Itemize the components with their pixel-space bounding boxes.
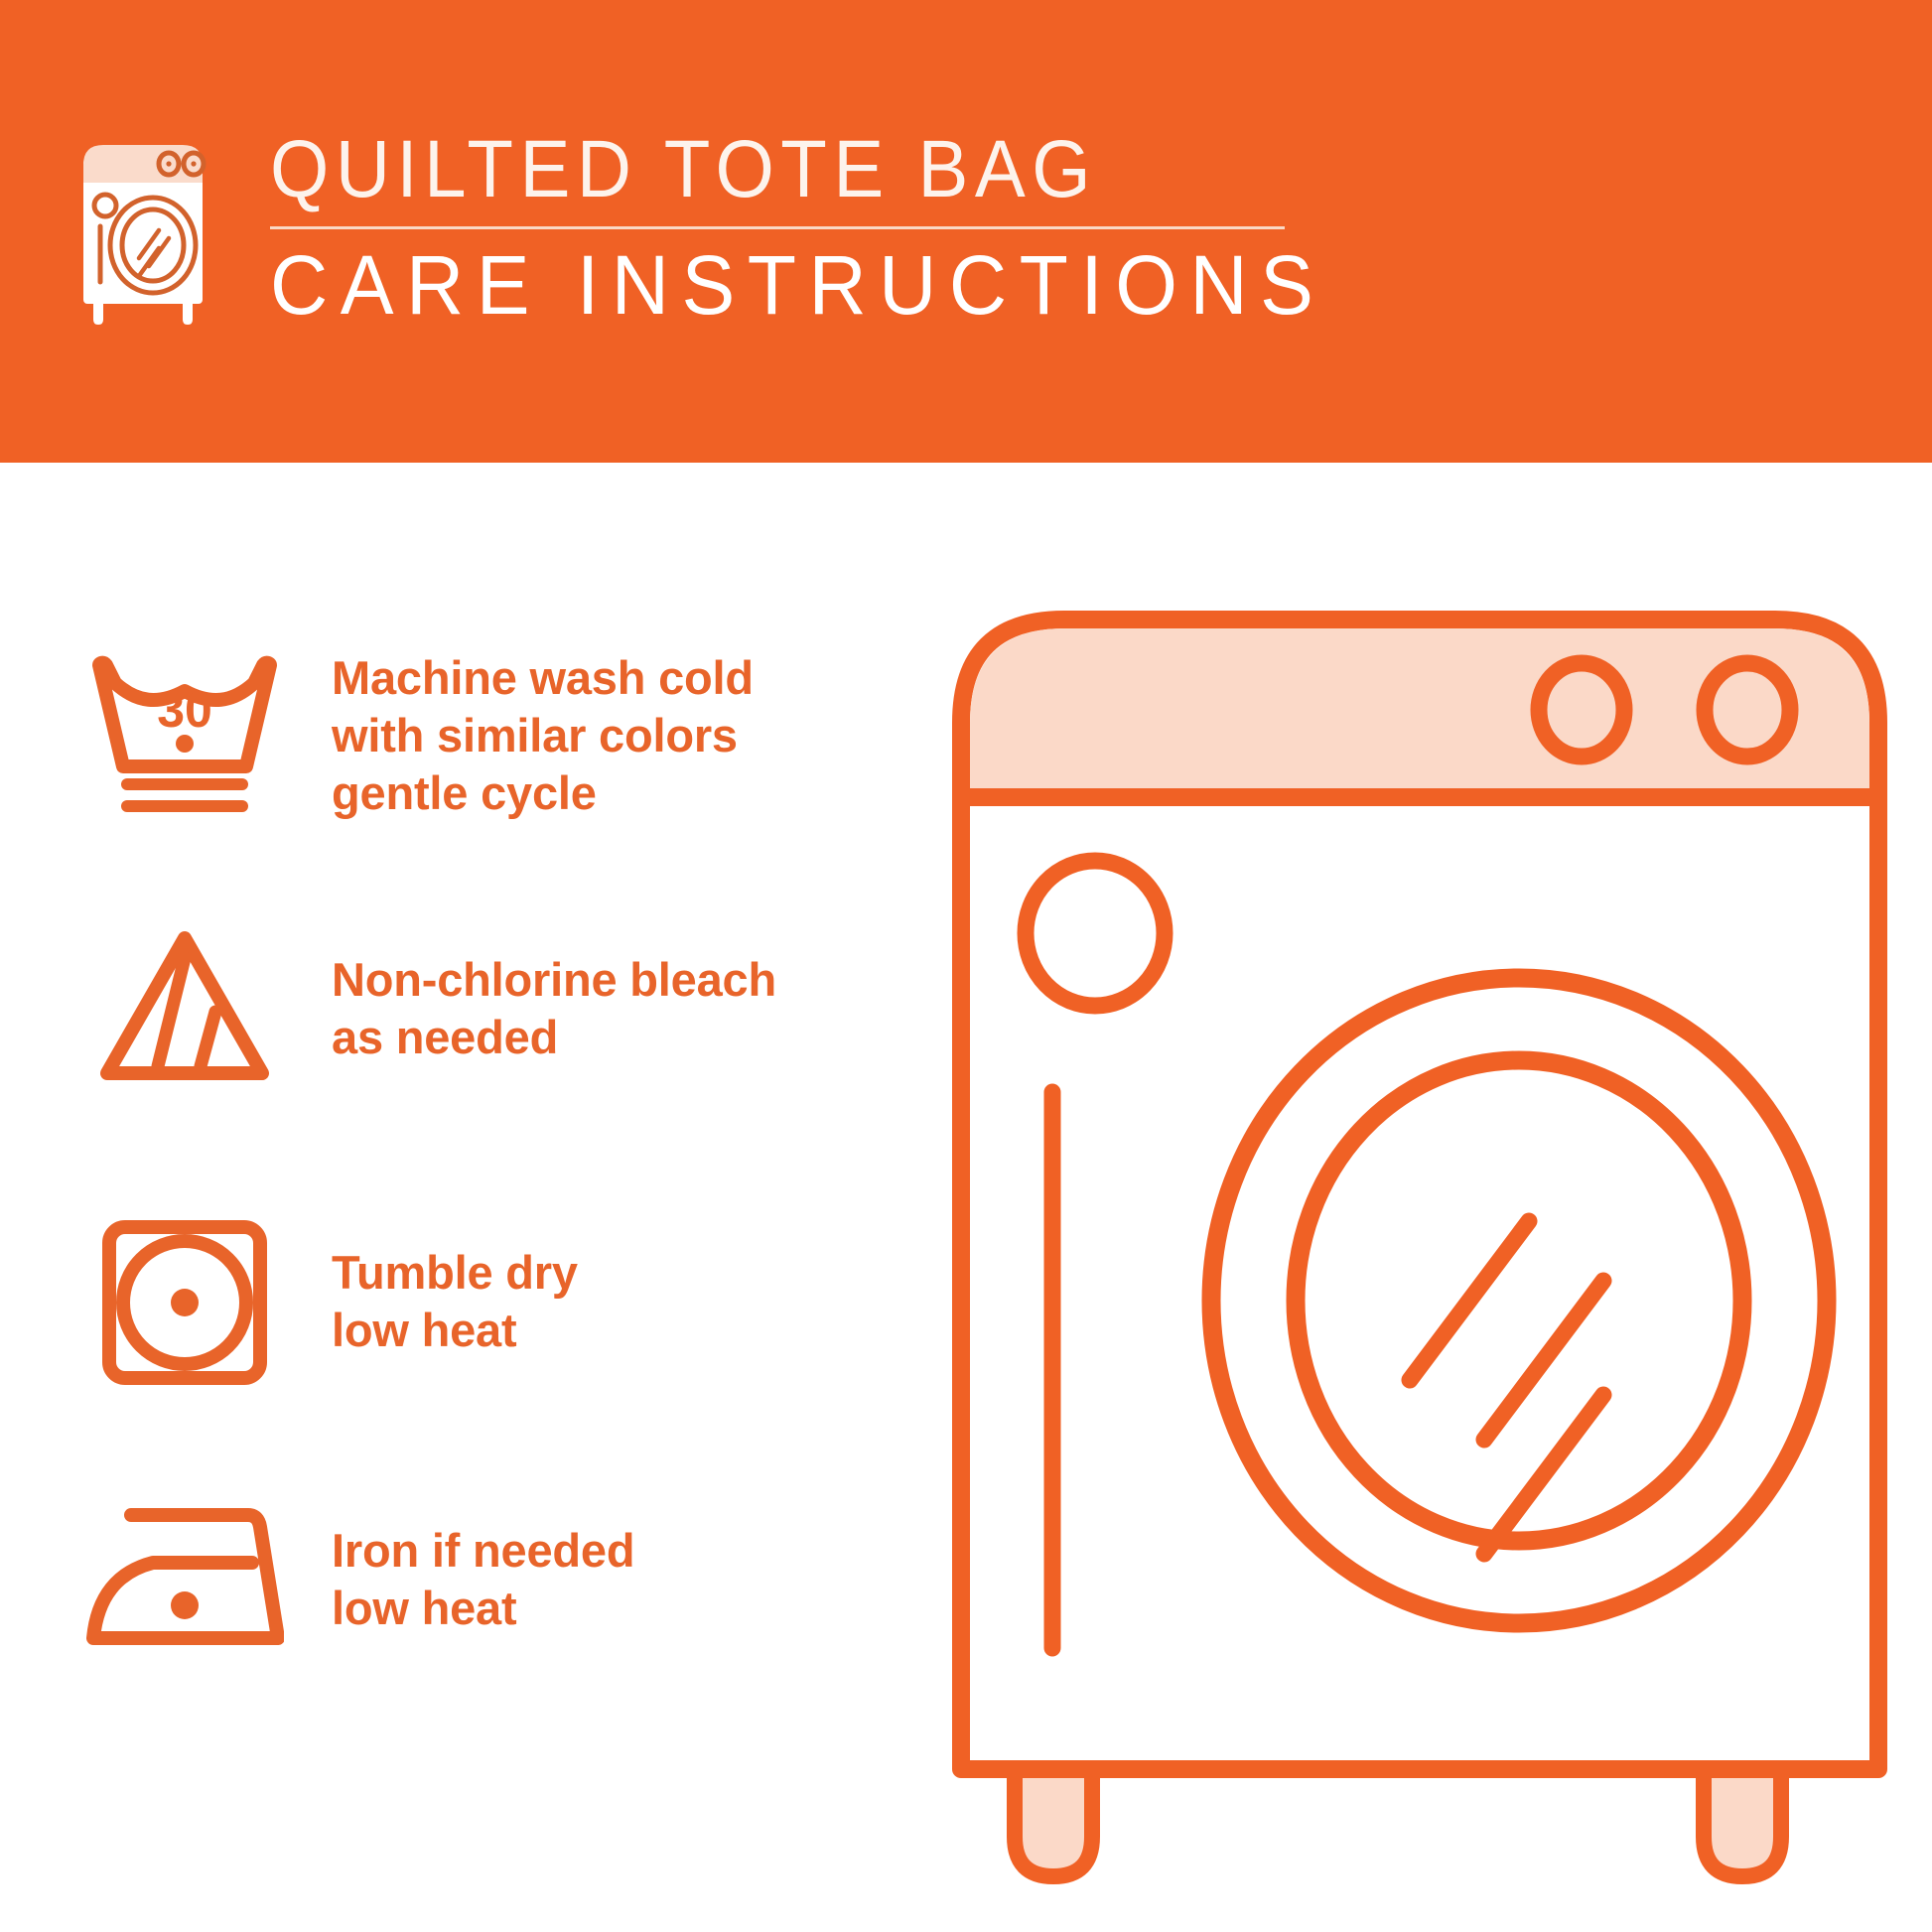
- care-line: Tumble dry: [332, 1244, 578, 1302]
- care-line: with similar colors: [332, 707, 754, 764]
- header-title-group: QUILTED TOTE BAG CARE INSTRUCTIONS: [270, 127, 1370, 331]
- iron-low-heat-icon: [85, 1480, 314, 1679]
- care-item-iron-label: Iron if needed low heat: [332, 1522, 634, 1637]
- page-subtitle: CARE INSTRUCTIONS: [270, 239, 1325, 331]
- care-item-wash-label: Machine wash cold with similar colors ge…: [332, 649, 754, 822]
- non-chlorine-bleach-triangle-icon: [85, 909, 314, 1108]
- care-item-iron: Iron if needed low heat: [85, 1480, 929, 1679]
- care-item-tumble-dry-label: Tumble dry low heat: [332, 1244, 578, 1359]
- header-content: QUILTED TOTE BAG CARE INSTRUCTIONS: [77, 127, 1318, 341]
- tumble-dry-low-heat-icon: [85, 1202, 314, 1401]
- care-line: Machine wash cold: [332, 649, 754, 707]
- care-line: Iron if needed: [332, 1522, 634, 1580]
- knob-left: [1539, 663, 1624, 757]
- washing-machine-icon: [77, 131, 208, 325]
- care-line: Non-chlorine bleach: [332, 951, 776, 1009]
- wash-temperature-label: 30: [157, 682, 212, 738]
- care-instruction-list: 30 Machine wash cold with similar colors…: [0, 463, 943, 1932]
- care-line: low heat: [332, 1302, 578, 1359]
- care-item-bleach: Non-chlorine bleach as needed: [85, 909, 929, 1108]
- care-line: as needed: [332, 1009, 776, 1066]
- page-title: QUILTED TOTE BAG: [270, 127, 1293, 212]
- care-item-wash: 30 Machine wash cold with similar colors…: [85, 636, 929, 835]
- washing-machine-illustration: [943, 596, 1896, 1896]
- knob-right: [1705, 663, 1790, 757]
- care-line: low heat: [332, 1580, 634, 1637]
- care-item-bleach-label: Non-chlorine bleach as needed: [332, 951, 776, 1066]
- header-banner: QUILTED TOTE BAG CARE INSTRUCTIONS: [0, 0, 1932, 463]
- care-line: gentle cycle: [332, 764, 754, 822]
- title-divider: [270, 226, 1285, 229]
- wash-tub-30-gentle-icon: 30: [85, 636, 314, 835]
- care-item-tumble-dry: Tumble dry low heat: [85, 1202, 929, 1401]
